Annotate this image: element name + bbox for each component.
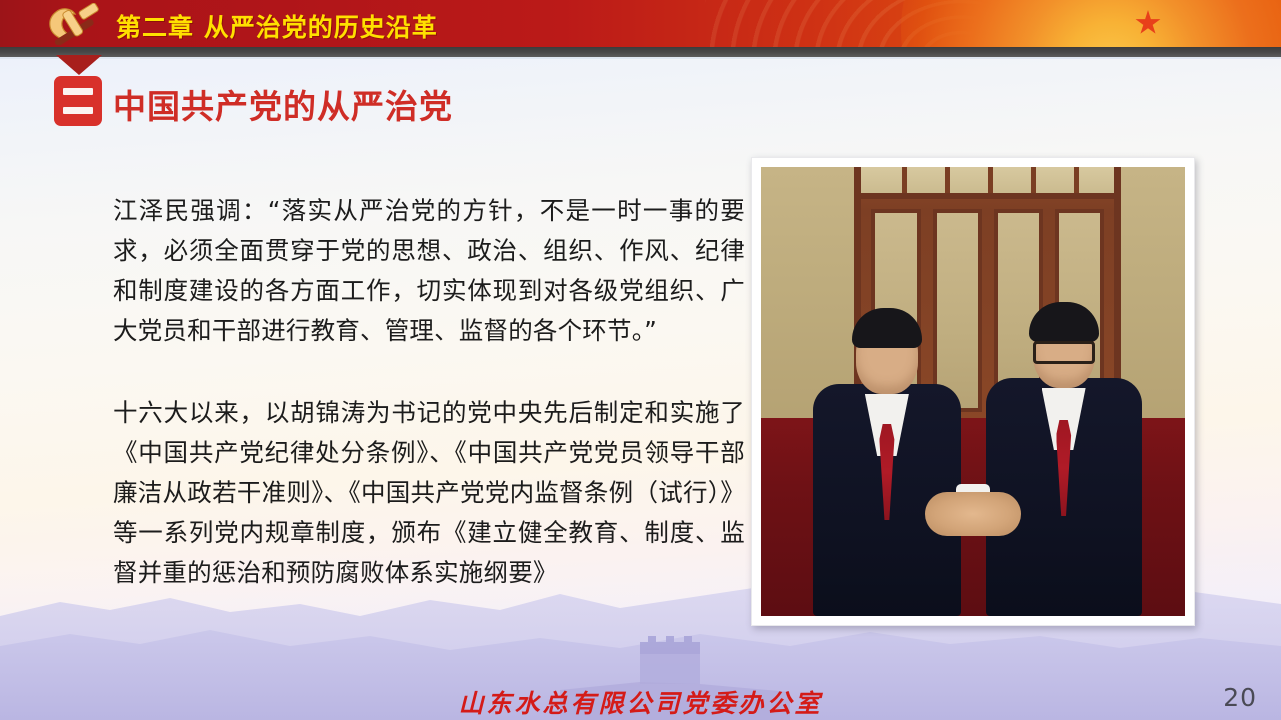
header-hairline [0, 57, 1281, 59]
footer-organization: 山东水总有限公司党委办公室 [0, 684, 1281, 720]
body-paragraph-2: 十六大以来，以胡锦涛为书记的党中央先后制定和实施了《中国共产党纪律处分条例》、《… [113, 393, 745, 593]
leaders-handshake-photo [751, 157, 1195, 626]
header-sunburst-glow [901, 0, 1281, 47]
photo-transom [861, 167, 1114, 199]
chapter-title: 第二章 从严治党的历史沿革 [116, 8, 438, 44]
photo-person-right [985, 280, 1143, 616]
page-number: 20 [1223, 683, 1257, 712]
section-number-badge [54, 76, 102, 126]
header-divider-bar [0, 47, 1281, 57]
body-paragraph-1: 江泽民强调：“落实从严治党的方针，不是一时一事的要求，必须全面贯穿于党的思想、政… [113, 191, 745, 351]
chapter-header-banner: 第二章 从严治党的历史沿革 [0, 0, 1281, 47]
hammer-sickle-emblem-icon [38, 3, 110, 45]
triangle-down-icon [56, 55, 102, 75]
section-title: 中国共产党的从严治党 [113, 80, 453, 128]
photo-handshake [925, 492, 1021, 536]
badge-bar-top [63, 88, 93, 95]
photo-image [761, 167, 1185, 616]
badge-bar-bottom [63, 107, 93, 114]
presentation-slide: 第二章 从严治党的历史沿革 中国共产党的从严治党 江泽民强调：“落实从严治党的方… [0, 0, 1281, 720]
photo-person-left [812, 286, 962, 616]
